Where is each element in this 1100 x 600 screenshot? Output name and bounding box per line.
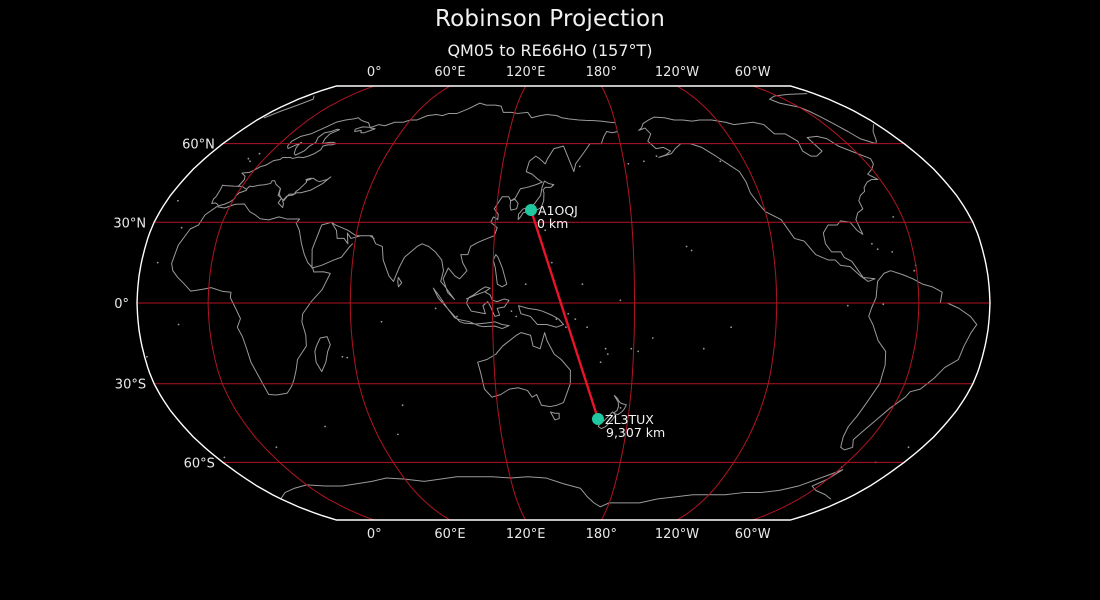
- island-marker: [586, 326, 588, 328]
- island-marker: [582, 283, 584, 285]
- coastline: [312, 222, 353, 268]
- island-marker: [402, 404, 404, 406]
- coastline: [315, 337, 330, 372]
- coastline: [518, 306, 563, 328]
- island-marker: [178, 324, 180, 326]
- island-marker: [525, 283, 527, 285]
- latitude-label: 30°N: [113, 216, 146, 231]
- island-marker: [579, 166, 581, 168]
- island-marker: [381, 321, 383, 323]
- coastline: [466, 287, 509, 317]
- island-marker: [248, 158, 250, 160]
- latitude-label: 0°: [114, 297, 129, 312]
- endpoint-marker[interactable]: [592, 413, 604, 425]
- map-figure: Robinson Projection QM05 to RE66HO (157°…: [0, 0, 1100, 600]
- island-marker: [324, 426, 326, 428]
- longitude-label-top: 60°E: [434, 65, 465, 80]
- path-line: [531, 210, 598, 419]
- island-marker: [620, 407, 622, 409]
- endpoint-marker[interactable]: [525, 204, 537, 216]
- island-marker: [342, 356, 344, 358]
- island-marker: [146, 356, 148, 358]
- island-marker: [637, 351, 639, 353]
- longitude-label-top: 120°W: [655, 65, 699, 80]
- endpoint-distance: 9,307 km: [606, 425, 665, 440]
- island-marker: [891, 251, 893, 253]
- island-marker: [397, 434, 399, 436]
- longitude-label-bottom: 180°: [586, 527, 617, 542]
- longitude-label-top: 60°W: [735, 65, 771, 80]
- island-marker: [643, 160, 645, 162]
- latitude-label: 60°S: [184, 456, 215, 471]
- island-marker: [177, 200, 179, 202]
- island-marker: [157, 262, 159, 264]
- longitude-label-bottom: 60°W: [735, 527, 771, 542]
- graticule-layer: [137, 86, 990, 520]
- island-marker: [276, 446, 278, 448]
- coastline: [510, 199, 518, 210]
- island-marker: [435, 308, 437, 310]
- island-marker: [877, 248, 879, 250]
- island-marker: [913, 270, 915, 272]
- island-marker: [630, 348, 632, 350]
- coastline: [281, 470, 843, 507]
- island-marker: [565, 326, 567, 328]
- coastline: [238, 103, 615, 186]
- latitude-label: 30°S: [115, 378, 146, 393]
- longitude-label-top: 180°: [586, 65, 617, 80]
- island-marker: [882, 303, 884, 305]
- longitude-label-bottom: 120°E: [506, 527, 546, 542]
- longitude-label-bottom: 0°: [367, 527, 382, 542]
- island-marker: [620, 299, 622, 301]
- longitude-label-bottom: 120°W: [655, 527, 699, 542]
- latitude-label: 60°N: [182, 138, 215, 153]
- marker-layer[interactable]: A1OQJ0 kmZL3TUX9,307 km: [525, 203, 665, 440]
- island-marker: [892, 216, 894, 218]
- coastline: [478, 333, 571, 407]
- island-marker: [511, 310, 513, 312]
- coastline: [172, 204, 331, 395]
- island-marker: [691, 250, 693, 252]
- island-marker: [456, 316, 458, 318]
- coastline: [212, 185, 247, 206]
- island-marker: [730, 326, 732, 328]
- longitude-label-bottom: 60°E: [434, 527, 465, 542]
- endpoint-distance: 0 km: [537, 216, 568, 231]
- island-marker: [656, 155, 658, 157]
- island-marker: [652, 337, 654, 339]
- coastline: [550, 412, 559, 420]
- island-marker: [249, 160, 251, 162]
- great-circle-path: [531, 210, 598, 419]
- coastline: [841, 271, 977, 450]
- island-marker: [515, 316, 517, 318]
- island-marker: [552, 184, 554, 186]
- coastline: [493, 255, 507, 287]
- island-marker: [567, 313, 569, 315]
- island-marker: [259, 153, 261, 155]
- island-marker: [871, 243, 873, 245]
- coastline-layer: [146, 94, 977, 507]
- island-marker: [607, 353, 609, 355]
- island-marker: [703, 348, 705, 350]
- island-marker: [551, 262, 553, 264]
- map-canvas: A1OQJ0 kmZL3TUX9,307 km 0°0°60°E60°E120°…: [0, 0, 1100, 600]
- island-marker: [224, 457, 226, 459]
- island-marker: [600, 361, 602, 363]
- island-marker: [627, 163, 629, 165]
- island-marker: [847, 305, 849, 307]
- island-marker: [181, 227, 183, 229]
- island-marker: [908, 446, 910, 448]
- coastline: [398, 277, 402, 286]
- coastline: [639, 117, 878, 281]
- island-marker: [346, 357, 348, 359]
- island-marker: [719, 160, 721, 162]
- island-marker: [556, 318, 558, 320]
- island-marker: [686, 246, 688, 248]
- island-marker: [605, 348, 607, 350]
- longitude-label-top: 120°E: [506, 65, 546, 80]
- island-marker: [574, 318, 576, 320]
- longitude-label-top: 0°: [367, 65, 382, 80]
